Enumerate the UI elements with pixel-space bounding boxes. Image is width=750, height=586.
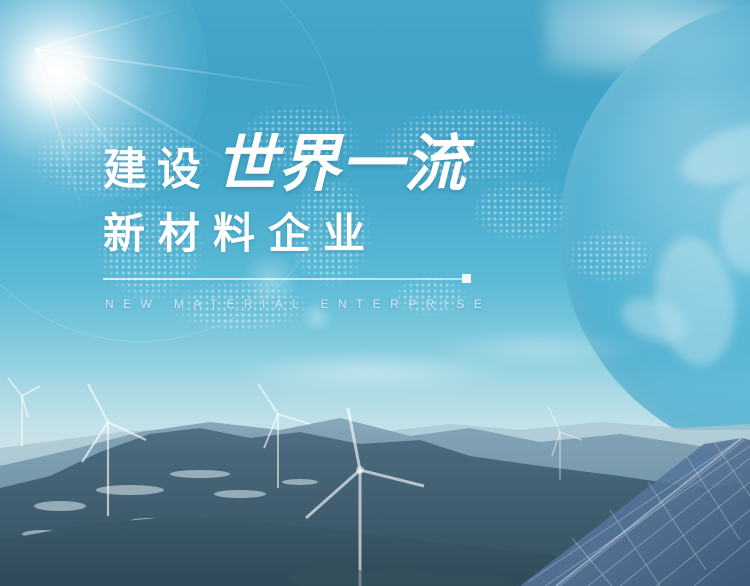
hero-banner: 建设 世界一流 新材料企业 NEW MATERIAL ENTERPRISE (0, 0, 750, 586)
headline-prefix: 建设 (103, 148, 211, 196)
headline-line-2: 新材料企业 (103, 213, 378, 255)
headline-line-1: 建设 世界一流 (103, 134, 467, 196)
headline-divider-cap (462, 274, 471, 283)
headline-divider (103, 278, 465, 280)
headline-block: 建设 世界一流 新材料企业 NEW MATERIAL ENTERPRISE (0, 0, 750, 586)
headline-emphasis: 世界一流 (215, 134, 467, 196)
subtitle-text: NEW MATERIAL ENTERPRISE (105, 297, 491, 311)
